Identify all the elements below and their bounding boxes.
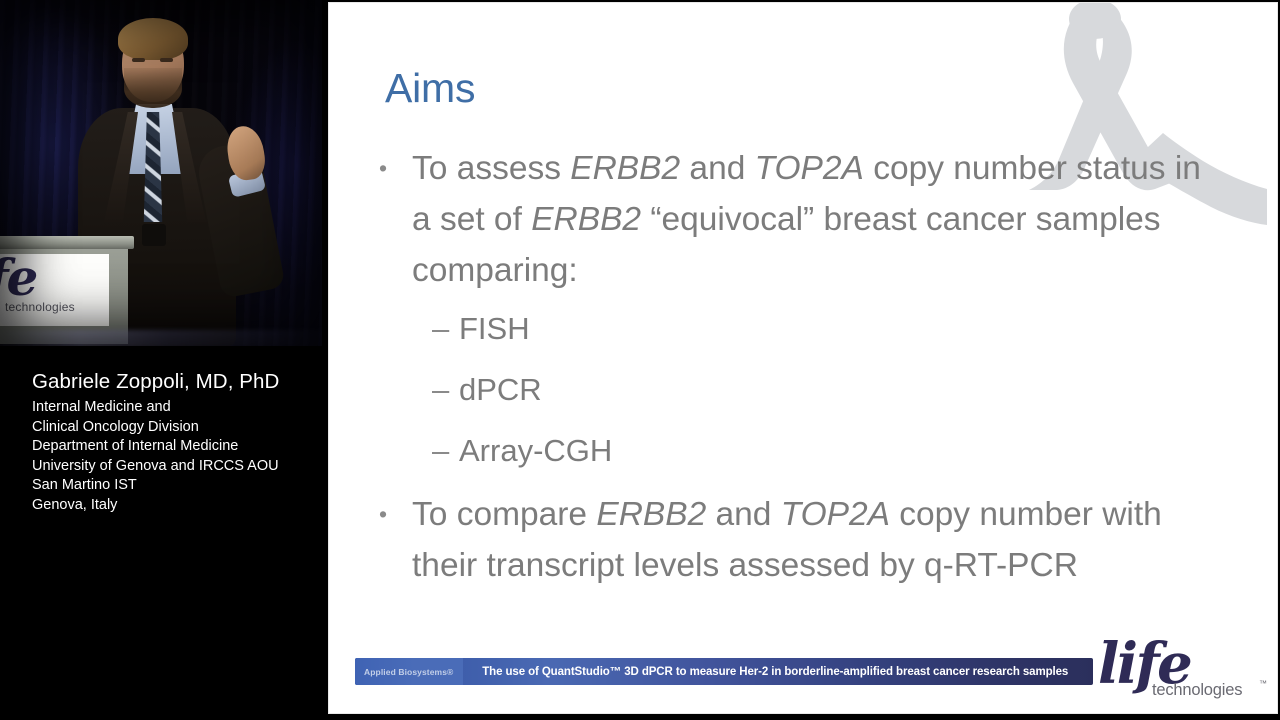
logo-trademark: ™: [1259, 679, 1267, 688]
speaker-affiliation-line: University of Genova and IRCCS AOU: [32, 457, 312, 477]
bullet-text: To assess ERBB2 and TOP2A copy number st…: [412, 143, 1224, 296]
slide-subbullet-list: –FISH–dPCR–Array-CGH: [379, 298, 1224, 481]
subbullet-text: Array-CGH: [459, 420, 612, 481]
bullet-text-segment: and: [680, 150, 755, 187]
podium-logo-subtext: technologies: [5, 300, 75, 314]
speaker-affiliation-line: Department of Internal Medicine: [32, 437, 312, 457]
banner-title-text: The use of QuantStudio™ 3D dPCR to measu…: [463, 666, 1093, 678]
speaker-affiliation-line: San Martino IST: [32, 476, 312, 496]
speaker-hair: [118, 18, 188, 60]
speaker-info-panel: Gabriele Zoppoli, MD, PhD Internal Medic…: [0, 346, 322, 720]
bullet-text-segment: and: [706, 496, 781, 533]
speaker-eye-right: [160, 58, 173, 62]
life-technologies-logo: life technologies ™: [1092, 639, 1267, 701]
subbullet-text: FISH: [459, 298, 530, 359]
podium-sign: life technologies: [0, 254, 109, 326]
speaker-affiliation-line: Genova, Italy: [32, 496, 312, 516]
gene-name: ERBB2: [570, 150, 680, 187]
podium-top: [0, 236, 134, 249]
slide-bullet: •To compare ERBB2 and TOP2A copy number …: [379, 489, 1224, 591]
speaker-affiliation: Internal Medicine andClinical Oncology D…: [32, 398, 312, 515]
slide-bullet-list: •To assess ERBB2 and TOP2A copy number s…: [379, 143, 1224, 591]
stage-light-glow: [0, 330, 322, 346]
logo-subtext: technologies: [1152, 681, 1242, 700]
gene-name: ERBB2: [596, 496, 706, 533]
speaker-eye-left: [132, 58, 145, 62]
speaker-affiliation-line: Internal Medicine and: [32, 398, 312, 418]
speaker-badge: [142, 224, 166, 246]
slide[interactable]: Aims •To assess ERBB2 and TOP2A copy num…: [328, 2, 1278, 714]
subbullet-marker: –: [432, 298, 459, 359]
bullet-text-segment: To compare: [412, 496, 596, 533]
subbullet-marker: –: [432, 420, 459, 481]
bullet-text: To compare ERBB2 and TOP2A copy number w…: [412, 489, 1224, 591]
subbullet-marker: –: [432, 359, 459, 420]
speaker-beard: [124, 68, 182, 108]
bullet-marker: •: [379, 143, 412, 194]
slide-title: Aims: [385, 65, 475, 112]
bullet-text-segment: To assess: [412, 150, 570, 187]
slide-subbullet: –FISH: [379, 298, 1224, 359]
slide-subbullet: –dPCR: [379, 359, 1224, 420]
presentation-viewer: life technologies Gabriele Zoppoli, MD, …: [0, 0, 1280, 720]
slide-bullet: •To assess ERBB2 and TOP2A copy number s…: [379, 143, 1224, 296]
gene-name: ERBB2: [531, 201, 641, 238]
speaker-name: Gabriele Zoppoli, MD, PhD: [32, 370, 312, 394]
subbullet-text: dPCR: [459, 359, 542, 420]
session-banner: Applied Biosystems® The use of QuantStud…: [355, 658, 1093, 685]
slide-subbullet: –Array-CGH: [379, 420, 1224, 481]
gene-name: TOP2A: [781, 496, 890, 533]
banner-brand-label: Applied Biosystems®: [355, 658, 463, 685]
bullet-marker: •: [379, 489, 412, 540]
speaker-video[interactable]: life technologies: [0, 0, 322, 346]
gene-name: TOP2A: [755, 150, 864, 187]
speaker-affiliation-line: Clinical Oncology Division: [32, 418, 312, 438]
